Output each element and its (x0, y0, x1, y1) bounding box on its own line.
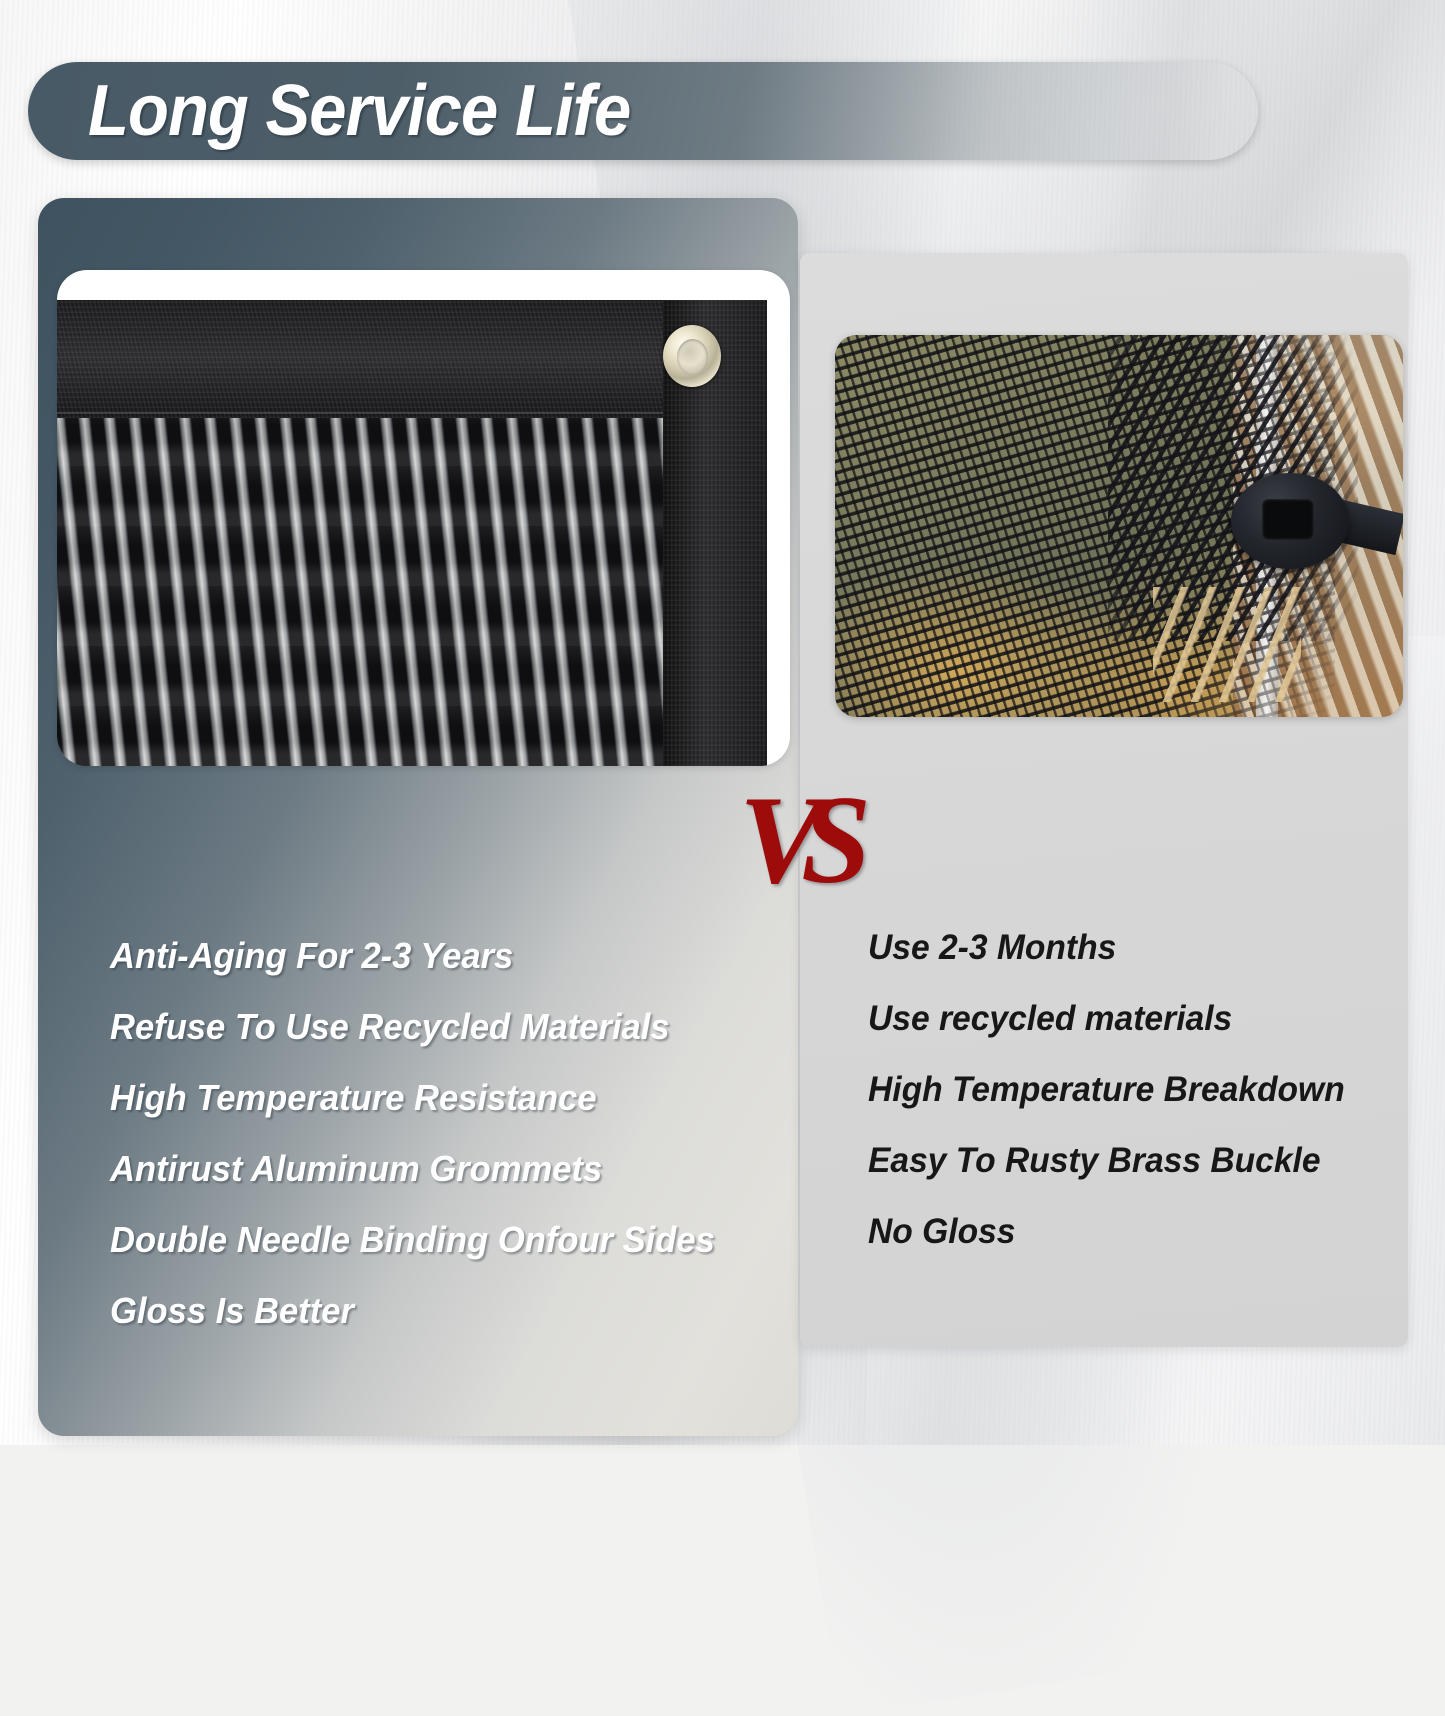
feature-list-ours: Anti-Aging For 2-3 Years Refuse To Use R… (110, 920, 780, 1346)
list-item: Use 2-3 Months (868, 912, 1406, 983)
top-binding-band (57, 300, 767, 418)
worn-mesh-photo (835, 335, 1403, 717)
list-item: Easy To Rusty Brass Buckle (868, 1125, 1406, 1196)
list-item: Refuse To Use Recycled Materials (110, 991, 753, 1062)
list-item: Antirust Aluminum Grommets (110, 1133, 753, 1204)
feature-list-theirs: Use 2-3 Months Use recycled materials Hi… (868, 912, 1428, 1267)
list-item: High Temperature Resistance (110, 1062, 753, 1133)
twig-debris (1153, 587, 1301, 702)
list-item: Gloss Is Better (110, 1275, 753, 1346)
versus-badge: VS (739, 778, 849, 904)
knitted-mesh-texture (57, 418, 663, 766)
list-item: Double Needle Binding Onfour Sides (110, 1204, 753, 1275)
list-item: No Gloss (868, 1196, 1406, 1267)
list-item: High Temperature Breakdown (868, 1054, 1406, 1125)
list-item: Use recycled materials (868, 983, 1406, 1054)
shade-cloth-photo (57, 300, 767, 766)
aluminum-grommet-icon (663, 325, 721, 387)
page-title: Long Service Life (88, 61, 630, 161)
list-item: Anti-Aging For 2-3 Years (110, 920, 753, 991)
plastic-buckle-icon (1231, 473, 1349, 569)
